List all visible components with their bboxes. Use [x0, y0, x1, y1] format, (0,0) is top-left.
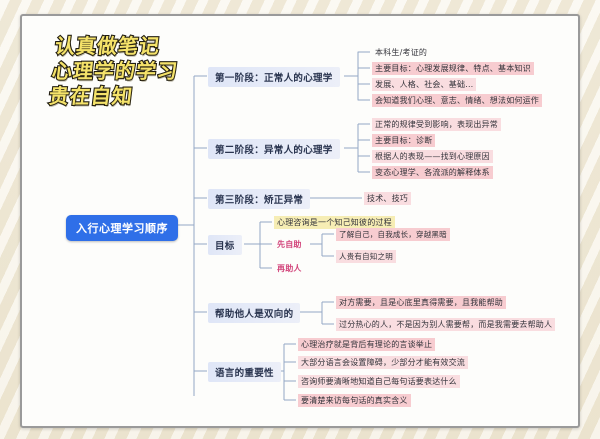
leaf-node[interactable]: 要清楚来访每句话的真实含义 — [298, 394, 411, 407]
leaf-node[interactable]: 根据人的表现——找到心理原因 — [372, 150, 493, 163]
root-node[interactable]: 入行心理学习顺序 — [66, 215, 178, 241]
branch-node-3[interactable]: 第三阶段：矫正异常 — [208, 189, 310, 209]
leaf-node[interactable]: 大部分语言会设置障碍，少部分才能有效交流 — [298, 356, 468, 369]
leaf-node[interactable]: 再助人 — [274, 262, 305, 275]
leaf-node[interactable]: 技术、技巧 — [364, 192, 411, 205]
leaf-node[interactable]: 对方需要，且是心底里真得需要，且我能帮助 — [336, 296, 506, 309]
leaf-node[interactable]: 正常的规律受到影响，表现出异常 — [372, 118, 501, 131]
leaf-node[interactable]: 心理治疗就是背后有理论的言谈举止 — [298, 338, 435, 351]
leaf-node[interactable]: 咨询师要清晰地知道自己每句话要表达什么 — [298, 375, 460, 388]
leaf-node[interactable]: 过分热心的人，不是因为别人需要帮，而是我需要去帮助人 — [336, 318, 555, 331]
leaf-node[interactable]: 主要目标：心理发展规律、特点、基本知识 — [372, 62, 534, 75]
leaf-node[interactable]: 变态心理学、各流派的解释体系 — [372, 166, 493, 179]
leaf-node[interactable]: 人贵有自知之明 — [336, 250, 396, 263]
branch-node-2[interactable]: 第二阶段：异常人的心理学 — [208, 139, 340, 159]
branch-node-5[interactable]: 帮助他人是双向的 — [208, 303, 300, 323]
leaf-node[interactable]: 主要目标：诊断 — [372, 134, 435, 147]
leaf-node[interactable]: 本科生/考证的 — [372, 46, 430, 59]
leaf-node[interactable]: 发展、人格、社会、基础… — [372, 78, 476, 91]
page-title: 认真做笔记 心理学的学习 贵在自知 — [47, 34, 182, 109]
subbranch-node-self-help[interactable]: 先自助 — [274, 238, 305, 251]
branch-node-6[interactable]: 语言的重要性 — [208, 362, 281, 382]
mindmap-canvas: 认真做笔记 心理学的学习 贵在自知 入行心理学习顺序 第一阶段：正常人的心理学 … — [22, 16, 578, 426]
branch-node-4[interactable]: 目标 — [208, 235, 242, 255]
mindmap-card: 认真做笔记 心理学的学习 贵在自知 入行心理学习顺序 第一阶段：正常人的心理学 … — [20, 14, 580, 428]
leaf-node[interactable]: 会知道我们心理、意志、情绪、想法如何运作 — [372, 94, 542, 107]
branch-node-1[interactable]: 第一阶段：正常人的心理学 — [208, 67, 340, 87]
leaf-node[interactable]: 了解自己，自我成长，穿越黑暗 — [336, 228, 450, 241]
